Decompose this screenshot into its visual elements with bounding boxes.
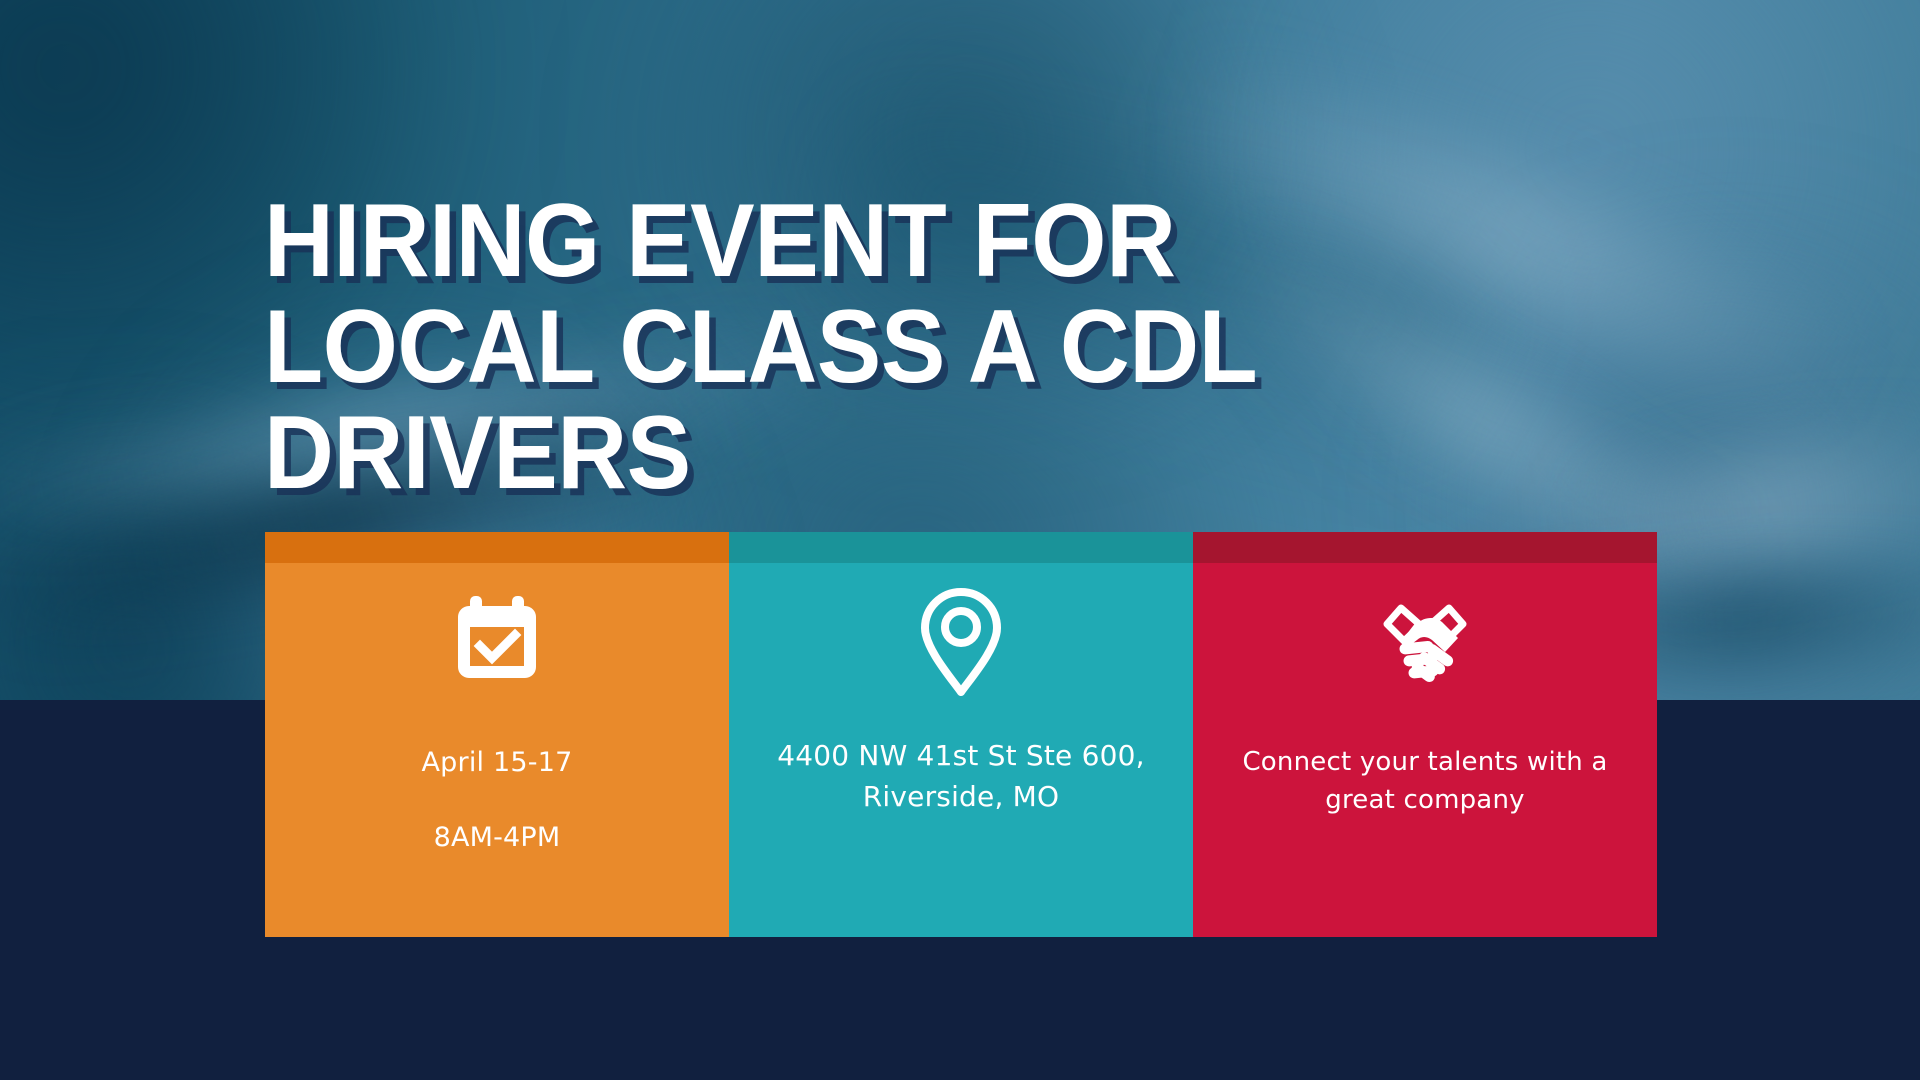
date-card-line-2: 8AM-4PM <box>422 817 573 858</box>
card-accent-strip <box>729 532 1193 563</box>
info-card-strip: April 15-17 8AM-4PM 4400 NW 41st St Ste … <box>265 532 1657 937</box>
value-card: Connect your talents with a great compan… <box>1193 532 1657 937</box>
date-card-text: April 15-17 8AM-4PM <box>398 742 597 858</box>
location-card-text: 4400 NW 41st St Ste 600, Riverside, MO <box>729 736 1193 817</box>
map-pin-icon <box>917 594 1005 690</box>
card-accent-strip <box>265 532 729 563</box>
headline-line-1: HIRING EVENT FOR <box>264 188 1361 294</box>
handshake-icon <box>1369 594 1481 690</box>
headline-line-3: DRIVERS <box>264 400 1361 506</box>
hiring-event-poster: HIRING EVENT FOR LOCAL CLASS A CDL DRIVE… <box>0 0 1920 1080</box>
poster-headline: HIRING EVENT FOR LOCAL CLASS A CDL DRIVE… <box>264 188 1361 506</box>
location-card: 4400 NW 41st St Ste 600, Riverside, MO <box>729 532 1193 937</box>
date-card: April 15-17 8AM-4PM <box>265 532 729 937</box>
card-accent-strip <box>1193 532 1657 563</box>
value-card-line-1: Connect your talents with a great compan… <box>1217 744 1633 819</box>
headline-line-2: LOCAL CLASS A CDL <box>264 294 1361 400</box>
location-card-line-1: 4400 NW 41st St Ste 600, Riverside, MO <box>753 736 1169 817</box>
value-card-text: Connect your talents with a great compan… <box>1193 744 1657 819</box>
calendar-check-icon <box>449 594 545 690</box>
date-card-line-1: April 15-17 <box>422 742 573 783</box>
